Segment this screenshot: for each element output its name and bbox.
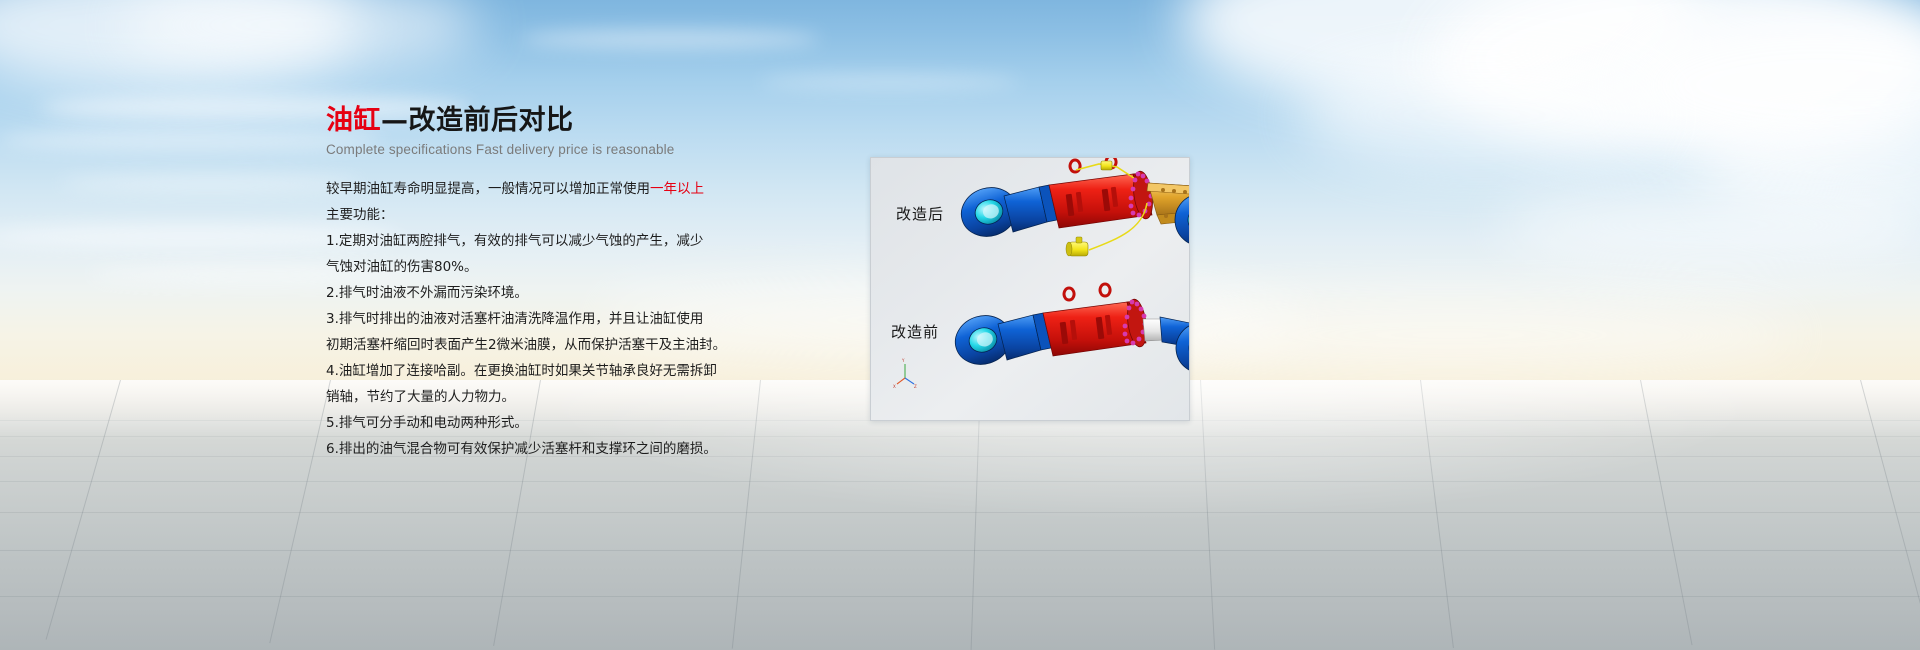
cloud-shape <box>760 75 1020 89</box>
cloud-shape <box>1300 60 1660 170</box>
cloud-shape <box>1100 300 1800 370</box>
page-title-rest: —改造前后对比 <box>381 105 574 136</box>
feature-line: 气蚀对油缸的伤害80%。 <box>326 258 756 277</box>
feature-text: 销轴，节约了大量的人力物力。 <box>326 389 515 405</box>
feature-text: 5.排气可分手动和电动两种形式。 <box>326 415 528 431</box>
feature-list: 较早期油缸寿命明显提高，一般情况可以增加正常使用一年以上 主要功能： 1.定期对… <box>326 180 756 459</box>
svg-text:X: X <box>893 384 896 389</box>
page-title: 油缸—改造前后对比 <box>326 106 756 136</box>
feature-text: 6.排出的油气混合物可有效保护减少活塞杆和支撑环之间的磨损。 <box>326 441 717 457</box>
feature-text: 主要功能： <box>326 207 394 223</box>
feature-text: 4.油缸增加了连接哈副。在更换油缸时如果关节轴承良好无需拆卸 <box>326 363 717 379</box>
feature-line: 主要功能： <box>326 206 756 225</box>
feature-line: 4.油缸增加了连接哈副。在更换油缸时如果关节轴承良好无需拆卸 <box>326 362 756 381</box>
feature-line: 初期活塞杆缩回时表面产生2微米油膜，从而保护活塞干及主油封。 <box>326 336 756 355</box>
hydraulic-cylinder-diagram: Y X Z <box>871 158 1189 420</box>
feature-line: 3.排气时排出的油液对活塞杆油清洗降温作用，并且让油缸使用 <box>326 310 756 329</box>
feature-highlight: 一年以上 <box>650 181 704 197</box>
feature-line: 1.定期对油缸两腔排气，有效的排气可以减少气蚀的产生，减少 <box>326 232 756 251</box>
label-after: 改造后 <box>896 203 944 224</box>
svg-text:Z: Z <box>914 384 917 389</box>
feature-text: 初期活塞杆缩回时表面产生2微米油膜，从而保护活塞干及主油封。 <box>326 337 726 353</box>
feature-text: 1.定期对油缸两腔排气，有效的排气可以减少气蚀的产生，减少 <box>326 233 703 249</box>
feature-text: 较早期油缸寿命明显提高，一般情况可以增加正常使用 <box>326 181 650 197</box>
feature-line: 2.排气时油液不外漏而污染环境。 <box>326 284 756 303</box>
feature-text: 2.排气时油液不外漏而污染环境。 <box>326 285 528 301</box>
feature-line: 较早期油缸寿命明显提高，一般情况可以增加正常使用一年以上 <box>326 180 756 199</box>
feature-text: 气蚀对油缸的伤害80%。 <box>326 259 478 275</box>
cloud-shape <box>0 130 380 150</box>
cloud-shape <box>1500 180 1920 270</box>
cloud-shape <box>520 30 820 48</box>
feature-line: 5.排气可分手动和电动两种形式。 <box>326 414 756 433</box>
cloud-shape <box>60 175 360 191</box>
cylinder-after <box>955 158 1189 256</box>
copy-block: 油缸—改造前后对比 Complete specifications Fast d… <box>326 106 756 466</box>
page-title-highlight: 油缸 <box>326 105 381 136</box>
cad-comparison-panel: Y X Z 改造后 改造前 <box>870 157 1190 421</box>
feature-text: 3.排气时排出的油液对活塞杆油清洗降温作用，并且让油缸使用 <box>326 311 703 327</box>
feature-line: 销轴，节约了大量的人力物力。 <box>326 388 756 407</box>
banner-stage: 油缸—改造前后对比 Complete specifications Fast d… <box>0 0 1920 650</box>
cylinder-before <box>949 284 1189 376</box>
axis-triad-icon: Y X Z <box>893 358 917 389</box>
label-before: 改造前 <box>891 321 939 342</box>
page-subtitle: Complete specifications Fast delivery pr… <box>326 142 756 157</box>
svg-text:Y: Y <box>901 358 905 363</box>
feature-line: 6.排出的油气混合物可有效保护减少活塞杆和支撑环之间的磨损。 <box>326 440 756 459</box>
